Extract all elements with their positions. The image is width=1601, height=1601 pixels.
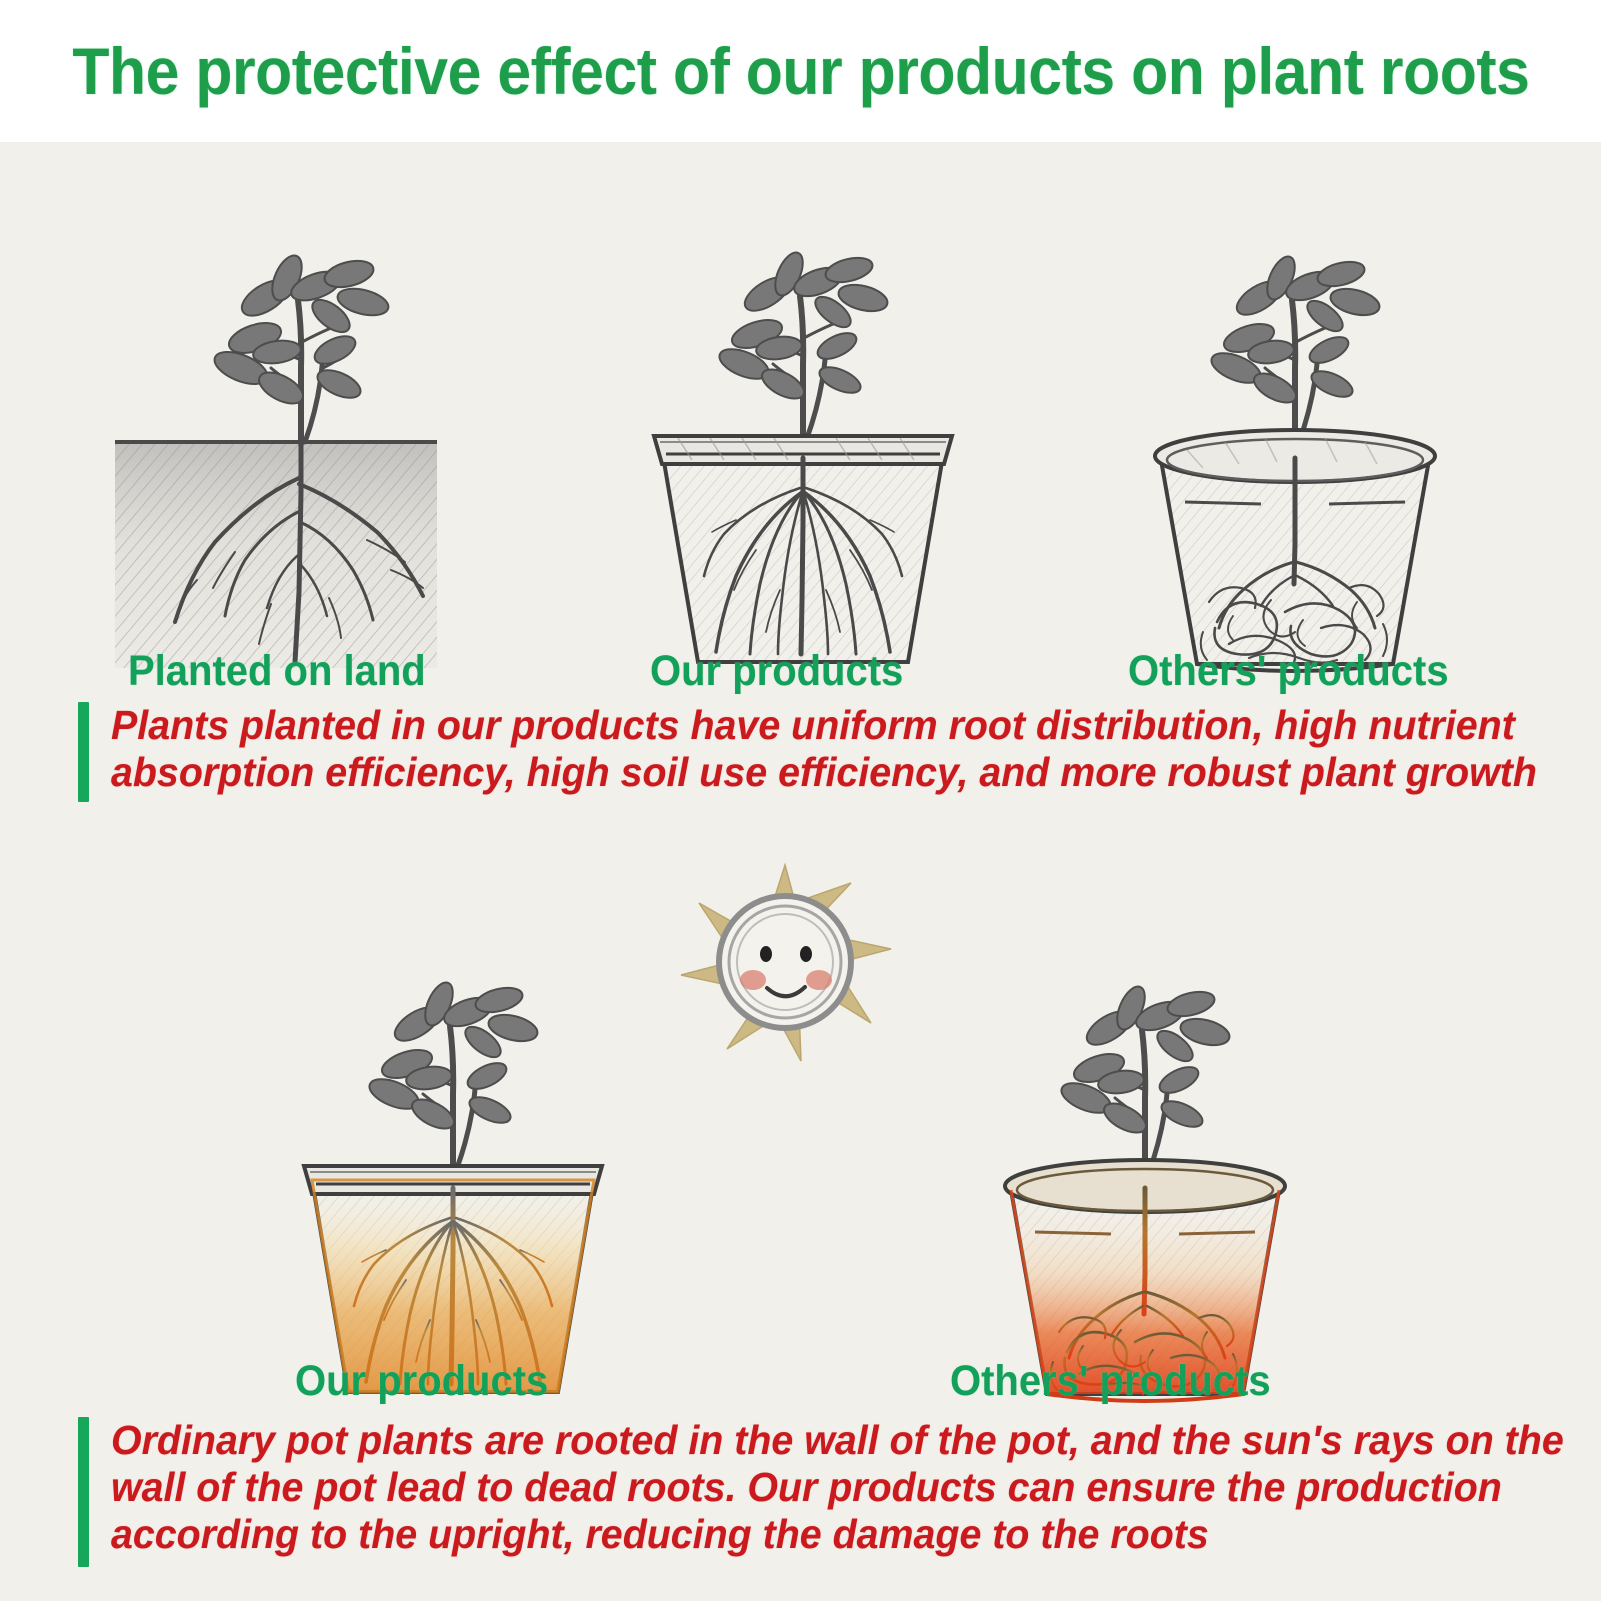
sun-cheek-right: [806, 970, 832, 990]
caption-accent-bar-top: [78, 702, 89, 802]
title-band: The protective effect of our products on…: [0, 0, 1601, 142]
caption-bottom-line-3: according to the upright, reducing the d…: [111, 1511, 1564, 1558]
plant-sketch: [421, 1026, 476, 1170]
page-title: The protective effect of our products on…: [72, 33, 1529, 109]
caption-bottom: Ordinary pot plants are rooted in the wa…: [78, 1417, 1578, 1567]
sun-eye-left: [760, 946, 772, 962]
illustration-others-products-bottom: [975, 932, 1315, 1412]
caption-top-line-2: absorption efficiency, high soil use eff…: [111, 749, 1537, 796]
soil-block: [115, 442, 437, 668]
caption-top: Plants planted in our products have unif…: [78, 702, 1548, 802]
caption-accent-bar-bottom: [78, 1417, 89, 1567]
label-our-products-top: Our products: [650, 647, 903, 696]
illustration-our-products-top: [640, 192, 970, 682]
label-planted-on-land: Planted on land: [128, 647, 426, 696]
infographic-board: Planted on land: [0, 142, 1601, 1601]
illustration-planted-on-land: [105, 192, 505, 682]
illustration-others-products-top: [1125, 192, 1465, 682]
illustration-our-products-bottom: [290, 932, 620, 1412]
illustration-smiling-sun: [665, 857, 905, 1067]
caption-top-line-1: Plants planted in our products have unif…: [111, 702, 1537, 749]
label-others-products-top: Others' products: [1128, 647, 1449, 696]
sun-cheek-left: [740, 970, 766, 990]
label-our-products-bottom: Our products: [295, 1357, 548, 1406]
caption-bottom-line-2: wall of the pot lead to dead roots. Our …: [111, 1464, 1564, 1511]
caption-bottom-line-1: Ordinary pot plants are rooted in the wa…: [111, 1417, 1564, 1464]
plant-sketch: [1113, 1030, 1168, 1174]
sun-face: [719, 896, 851, 1028]
sun-eye-right: [800, 946, 812, 962]
label-others-products-bottom: Others' products: [950, 1357, 1271, 1406]
